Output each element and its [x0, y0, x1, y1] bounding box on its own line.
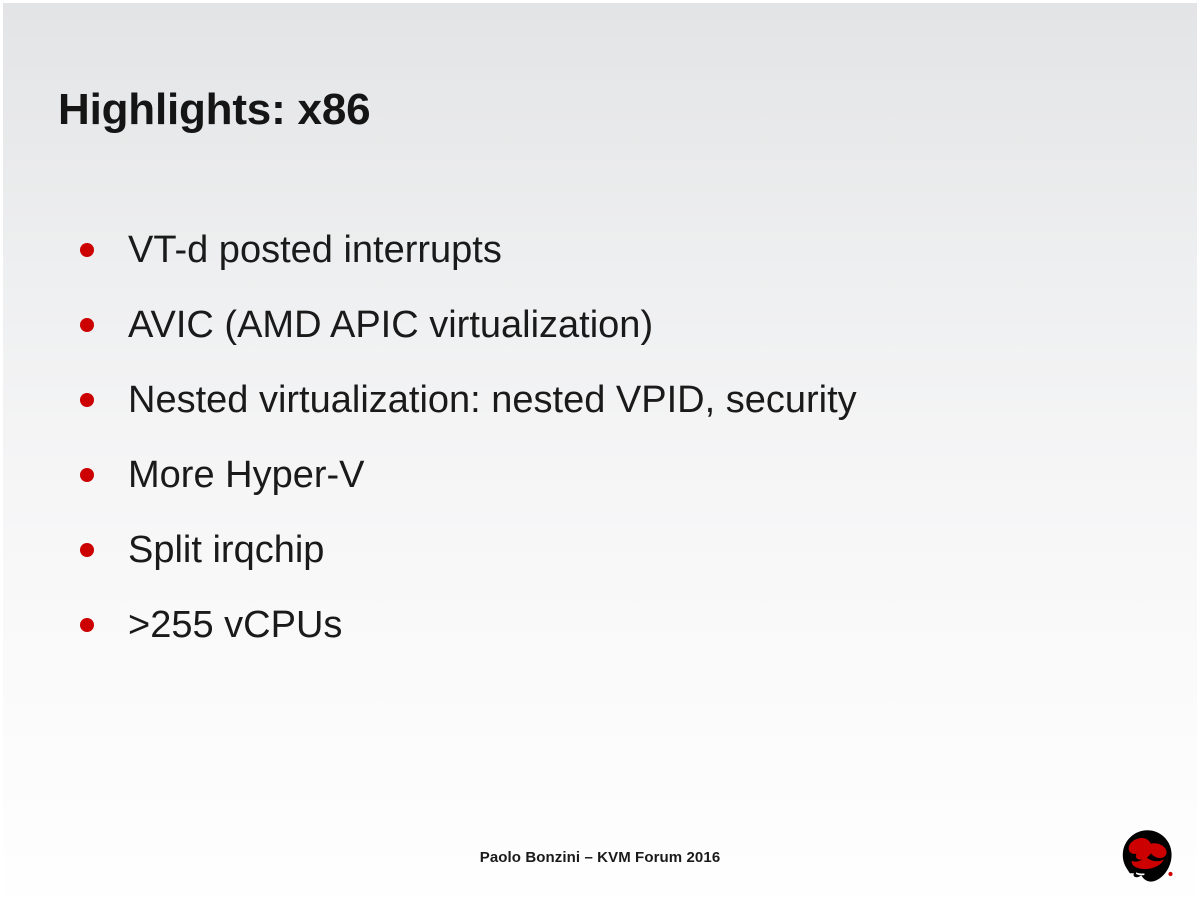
list-item-label: AVIC (AMD APIC virtualization): [128, 302, 653, 348]
bullet-dot-icon: [80, 243, 94, 257]
list-item: >255 vCPUs: [58, 587, 1148, 662]
list-item: AVIC (AMD APIC virtualization): [58, 287, 1148, 362]
bullet-dot-icon: [80, 543, 94, 557]
list-item: VT-d posted interrupts: [58, 212, 1148, 287]
bullet-dot-icon: [80, 318, 94, 332]
list-item-label: Split irqchip: [128, 527, 324, 573]
bullet-dot-icon: [80, 393, 94, 407]
red-hat-shadowman-icon: [1117, 829, 1187, 887]
list-item: Nested virtualization: nested VPID, secu…: [58, 362, 1148, 437]
bullet-dot-icon: [80, 468, 94, 482]
bullet-list: VT-d posted interrupts AVIC (AMD APIC vi…: [58, 212, 1148, 662]
list-item: More Hyper-V: [58, 437, 1148, 512]
bullet-dot-icon: [80, 618, 94, 632]
page-title: Highlights: x86: [58, 83, 1118, 137]
list-item-label: >255 vCPUs: [128, 602, 342, 648]
list-item-label: VT-d posted interrupts: [128, 227, 502, 273]
list-item-label: Nested virtualization: nested VPID, secu…: [128, 377, 857, 423]
slide-canvas: Highlights: x86 VT-d posted interrupts A…: [0, 0, 1200, 900]
list-item-label: More Hyper-V: [128, 452, 365, 498]
slide-footer: Paolo Bonzini – KVM Forum 2016: [3, 849, 1197, 866]
list-item: Split irqchip: [58, 512, 1148, 587]
